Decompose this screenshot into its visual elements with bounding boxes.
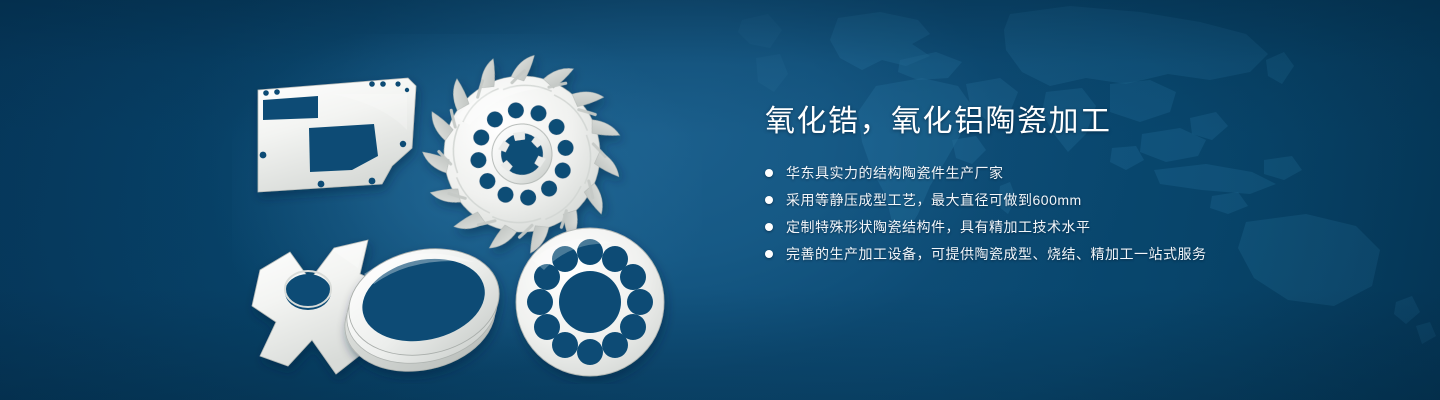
banner-text-column: 氧化锆，氧化铝陶瓷加工 华东具实力的结构陶瓷件生产厂家 采用等静压成型工艺，最大… <box>765 104 1385 265</box>
banner-headline: 氧化锆，氧化铝陶瓷加工 <box>765 104 1385 140</box>
feature-text: 采用等静压成型工艺，最大直径可做到600mm <box>786 190 1082 210</box>
feature-item: 定制特殊形状陶瓷结构件，具有精加工技术水平 <box>765 216 1385 238</box>
bullet-dot-icon <box>765 223 773 231</box>
feature-item: 华东具实力的结构陶瓷件生产厂家 <box>765 162 1385 184</box>
ceramic-perforated-ring <box>516 228 664 376</box>
bullet-dot-icon <box>765 250 773 258</box>
feature-item: 完善的生产加工设备，可提供陶瓷成型、烧结、精加工一站式服务 <box>765 243 1385 265</box>
feature-text: 完善的生产加工设备，可提供陶瓷成型、烧结、精加工一站式服务 <box>786 244 1207 264</box>
feature-item: 采用等静压成型工艺，最大直径可做到600mm <box>765 189 1385 211</box>
promo-banner: 氧化锆，氧化铝陶瓷加工 华东具实力的结构陶瓷件生产厂家 采用等静压成型工艺，最大… <box>0 0 1440 400</box>
bullet-dot-icon <box>765 196 773 204</box>
feature-list: 华东具实力的结构陶瓷件生产厂家 采用等静压成型工艺，最大直径可做到600mm 定… <box>765 162 1385 265</box>
feature-text: 华东具实力的结构陶瓷件生产厂家 <box>786 163 1004 183</box>
feature-text: 定制特殊形状陶瓷结构件，具有精加工技术水平 <box>786 217 1091 237</box>
ceramic-products-image <box>232 34 702 384</box>
bullet-dot-icon <box>765 169 773 177</box>
